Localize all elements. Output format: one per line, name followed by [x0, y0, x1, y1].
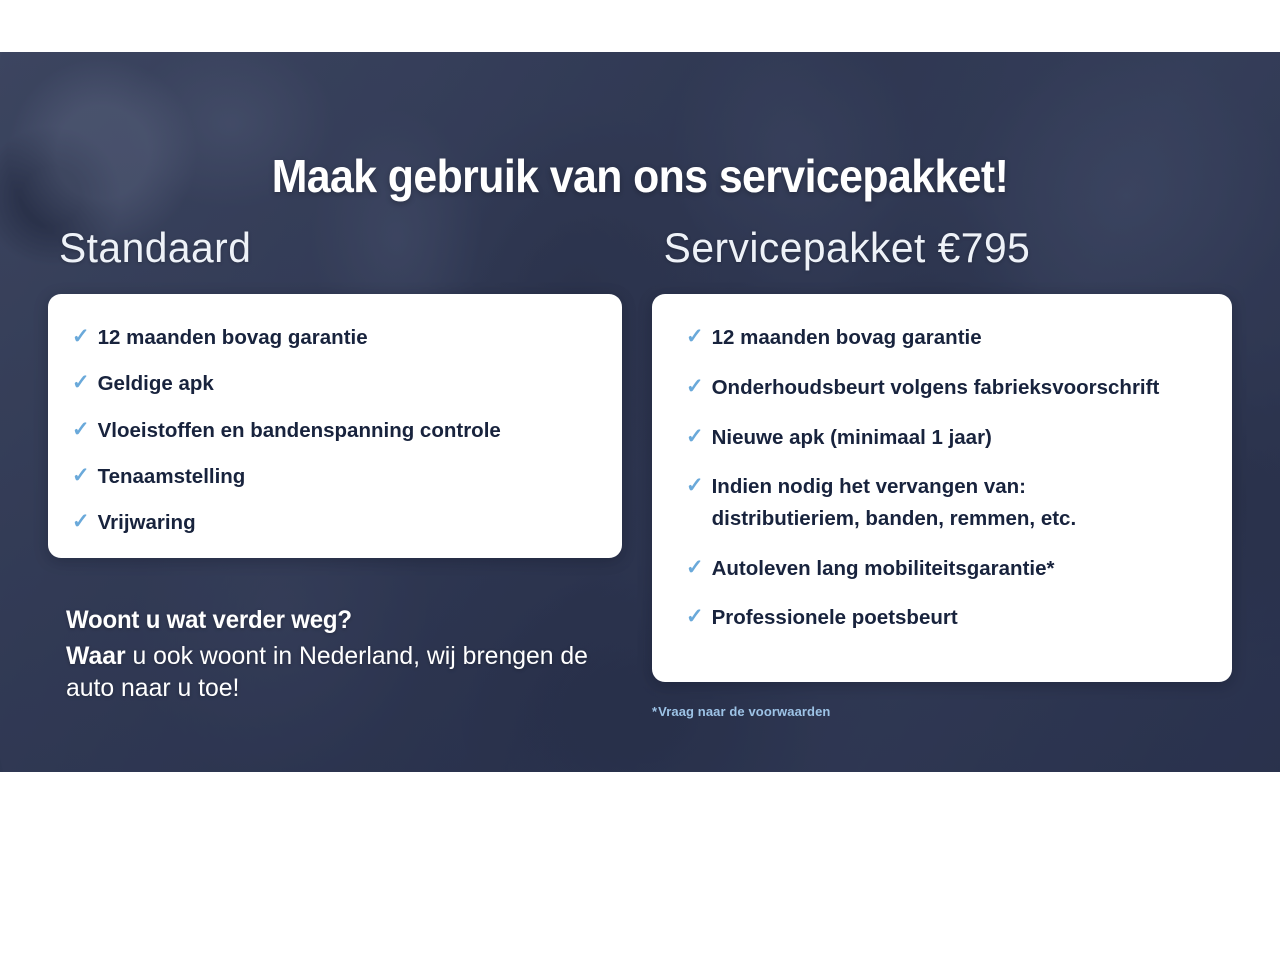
list-item: ✓ Vrijwaring: [72, 511, 622, 536]
conditions-footnote-label: Vraag naar de voorwaarden: [658, 704, 830, 719]
check-icon: ✓: [686, 474, 704, 499]
list-item-label: 12 maanden bovag garantie: [712, 326, 982, 350]
service-package-poster: Maak gebruik van ons servicepakket! Stan…: [0, 0, 1280, 960]
footer-bar: Meer informatie: wijnne.nl AUTOBEDRIJF W…: [0, 772, 1280, 960]
delivery-answer: Waar u ook woont in Nederland, wij breng…: [66, 640, 601, 704]
list-item-label: Tenaamstelling: [98, 465, 246, 489]
check-icon: ✓: [686, 375, 704, 400]
list-item-sublabel: distributieriem, banden, remmen, etc.: [712, 507, 1077, 531]
check-icon: ✓: [686, 425, 704, 450]
list-item: ✓ Professionele poetsbeurt: [686, 606, 1232, 631]
list-item: ✓ Geldige apk: [72, 372, 622, 397]
check-icon: ✓: [686, 556, 704, 581]
delivery-question: Woont u wat verder weg?: [66, 606, 584, 635]
check-icon: ✓: [72, 510, 90, 535]
list-item-label: Nieuwe apk (minimaal 1 jaar): [712, 426, 992, 450]
list-item-label: Vloeistoffen en bandenspanning controle: [98, 419, 501, 443]
list-item-label: Professionele poetsbeurt: [712, 606, 958, 630]
asterisk-icon: *: [652, 704, 657, 719]
list-item-label: Vrijwaring: [98, 511, 196, 535]
column-title-servicepakket: Servicepakket €795: [664, 224, 1031, 272]
page-title: Maak gebruik van ons servicepakket!: [45, 149, 1235, 203]
delivery-note: Woont u wat verder weg? Waar u ook woont…: [66, 606, 606, 704]
servicepakket-list: ✓ 12 maanden bovag garantie ✓ Onderhouds…: [652, 294, 1232, 631]
list-item-label: Onderhoudsbeurt volgens fabrieksvoorschr…: [712, 376, 1160, 400]
list-item: ✓ Tenaamstelling: [72, 465, 622, 490]
list-item: ✓ Indien nodig het vervangen van: distri…: [686, 475, 1232, 531]
check-icon: ✓: [72, 371, 90, 396]
conditions-footnote: *Vraag naar de voorwaarden: [652, 704, 830, 719]
check-icon: ✓: [72, 325, 90, 350]
list-item-label: 12 maanden bovag garantie: [98, 326, 368, 350]
delivery-answer-bold: Waar: [66, 642, 126, 670]
list-item-label: Geldige apk: [98, 372, 214, 396]
check-icon: ✓: [686, 605, 704, 630]
standaard-list: ✓ 12 maanden bovag garantie ✓ Geldige ap…: [48, 294, 622, 536]
list-item: ✓ Autoleven lang mobiliteitsgarantie*: [686, 557, 1232, 582]
delivery-answer-rest: u ook woont in Nederland, wij brengen de…: [66, 642, 588, 702]
check-icon: ✓: [72, 418, 90, 443]
standaard-card: ✓ 12 maanden bovag garantie ✓ Geldige ap…: [48, 294, 622, 558]
list-item: ✓ 12 maanden bovag garantie: [72, 326, 622, 351]
list-item: ✓ Vloeistoffen en bandenspanning control…: [72, 419, 622, 444]
column-title-standaard: Standaard: [59, 224, 251, 272]
list-item: ✓ Onderhoudsbeurt volgens fabrieksvoorsc…: [686, 376, 1232, 401]
servicepakket-card: ✓ 12 maanden bovag garantie ✓ Onderhouds…: [652, 294, 1232, 682]
check-icon: ✓: [72, 464, 90, 489]
list-item: ✓ 12 maanden bovag garantie: [686, 326, 1232, 351]
list-item-label: Autoleven lang mobiliteitsgarantie*: [712, 557, 1055, 581]
list-item: ✓ Nieuwe apk (minimaal 1 jaar): [686, 426, 1232, 451]
list-item-label: Indien nodig het vervangen van:: [712, 475, 1077, 499]
check-icon: ✓: [686, 325, 704, 350]
